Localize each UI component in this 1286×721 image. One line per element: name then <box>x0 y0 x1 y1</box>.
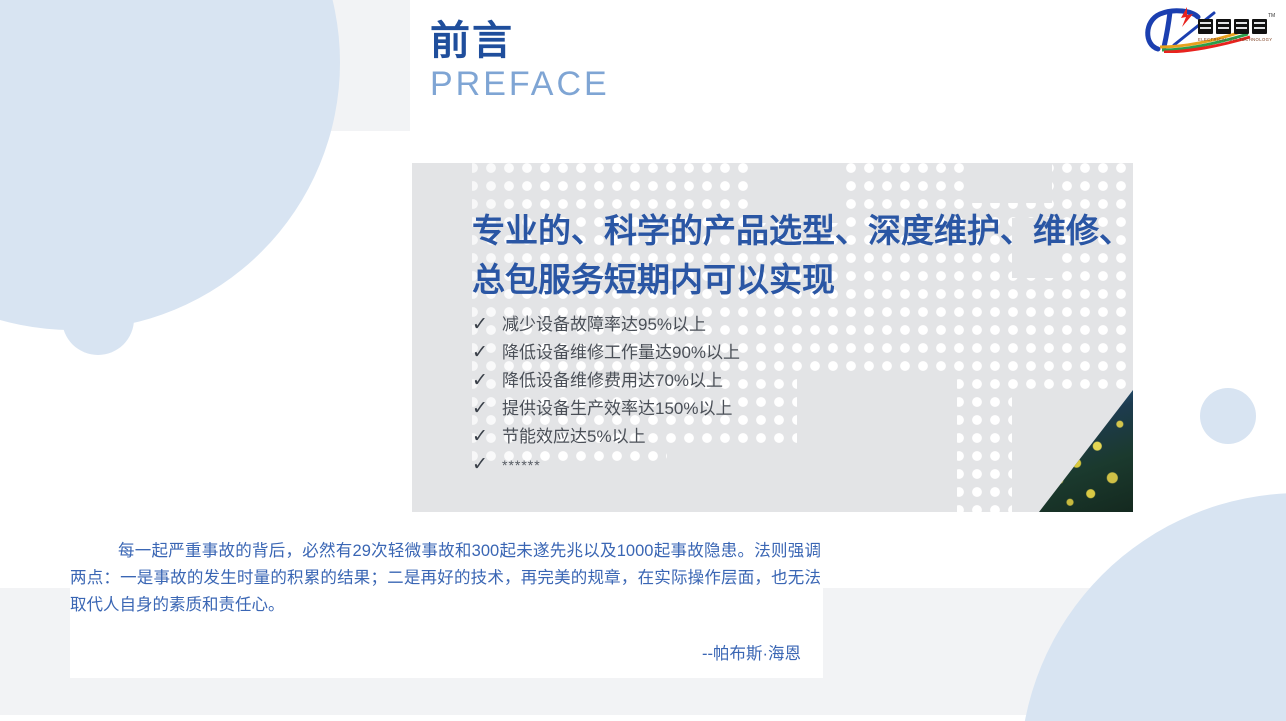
check-icon: ✓ <box>472 451 502 479</box>
quote-text: 每一起严重事故的背后，必然有29次轻微事故和300起未遂先兆以及1000起事故隐… <box>70 538 823 619</box>
decorative-circle-small-left <box>62 283 134 355</box>
decorative-circle-top-left <box>0 0 340 330</box>
list-item-label: 降低设备维修费用达70%以上 <box>502 367 723 395</box>
content-headline-line-1: 专业的、科学的产品选型、深度维护、维修、 <box>472 207 1133 256</box>
decorative-circle-small-right <box>1200 388 1256 444</box>
check-icon: ✓ <box>472 423 502 451</box>
svg-text:ELECTRICAL CHI TECHNOLOGY: ELECTRICAL CHI TECHNOLOGY <box>1198 37 1272 42</box>
company-logo-icon: ELECTRICAL CHI TECHNOLOGY TM <box>1140 5 1280 53</box>
list-item-label: 提供设备生产效率达150%以上 <box>502 395 732 423</box>
list-item-label: 节能效应达5%以上 <box>502 423 646 451</box>
slide-canvas: 前言 PREFACE <box>0 0 1286 721</box>
list-item-label: 减少设备故障率达95%以上 <box>502 311 706 339</box>
check-icon: ✓ <box>472 339 502 367</box>
list-item: ✓ 降低设备维修工作量达90%以上 <box>472 339 740 367</box>
list-item-label: ****** <box>502 451 541 479</box>
list-item: ✓ ****** <box>472 451 740 479</box>
dot-mask <box>412 163 472 512</box>
quote-attribution: --帕布斯·海恩 <box>702 644 801 664</box>
list-item: ✓ 节能效应达5%以上 <box>472 423 740 451</box>
header-panel: 前言 PREFACE <box>410 0 1133 144</box>
list-item: ✓ 提供设备生产效率达150%以上 <box>472 395 740 423</box>
company-logo[interactable]: ELECTRICAL CHI TECHNOLOGY TM <box>1133 0 1286 57</box>
quote-box: 每一起严重事故的背后，必然有29次轻微事故和300起未遂先兆以及1000起事故隐… <box>70 528 823 678</box>
page-title-en: PREFACE <box>430 64 610 104</box>
svg-text:TM: TM <box>1268 13 1275 19</box>
benefits-list: ✓ 减少设备故障率达95%以上 ✓ 降低设备维修工作量达90%以上 ✓ 降低设备… <box>472 311 740 479</box>
check-icon: ✓ <box>472 311 502 339</box>
content-headline: 专业的、科学的产品选型、深度维护、维修、 总包服务短期内可以实现 <box>472 207 1133 305</box>
check-icon: ✓ <box>472 395 502 423</box>
list-item: ✓ 降低设备维修费用达70%以上 <box>472 367 740 395</box>
content-headline-line-2: 总包服务短期内可以实现 <box>472 256 1133 305</box>
dot-mask <box>972 163 1052 203</box>
page-title-group: 前言 PREFACE <box>430 20 610 104</box>
dot-mask <box>797 378 957 512</box>
check-icon: ✓ <box>472 367 502 395</box>
list-item-label: 降低设备维修工作量达90%以上 <box>502 339 740 367</box>
list-item: ✓ 减少设备故障率达95%以上 <box>472 311 740 339</box>
page-title-cn: 前言 <box>430 20 610 63</box>
content-panel: 专业的、科学的产品选型、深度维护、维修、 总包服务短期内可以实现 ✓ 减少设备故… <box>412 163 1133 512</box>
